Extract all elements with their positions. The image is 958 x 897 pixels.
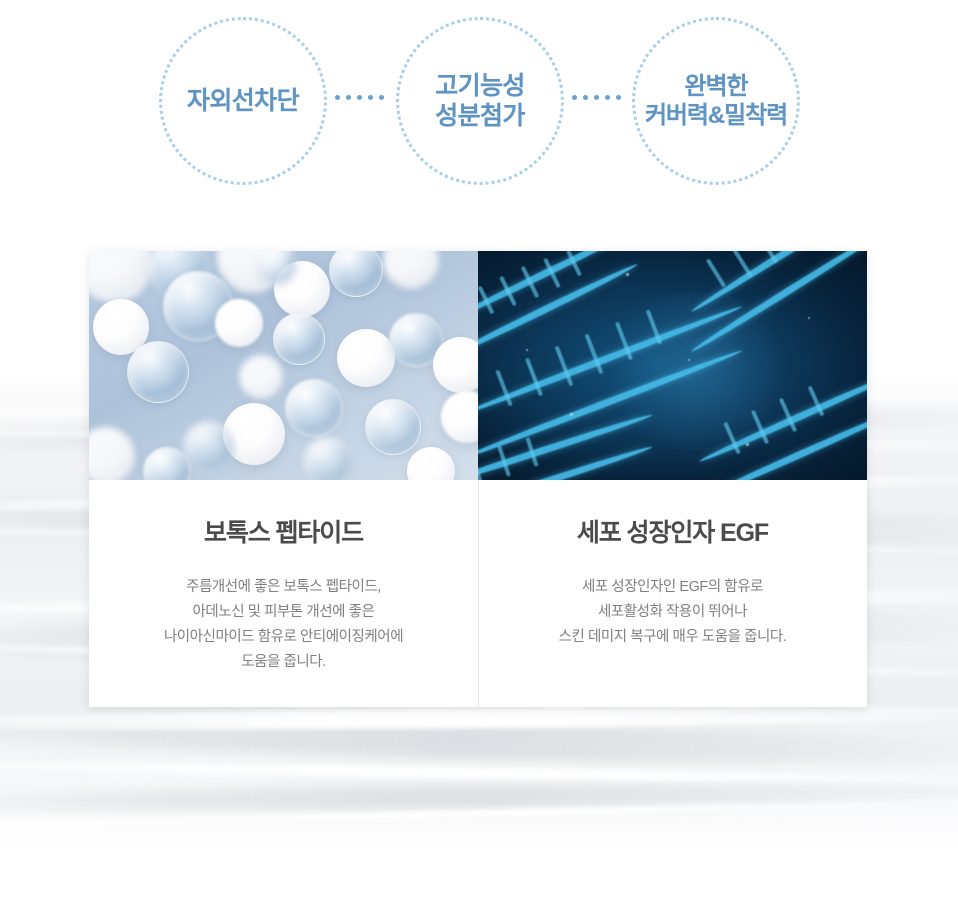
connector-dot	[368, 95, 373, 100]
connector-dot	[346, 95, 351, 100]
card-thumbnail	[478, 251, 867, 480]
wave-bottom-fade	[0, 821, 958, 867]
feature-circle-functional: 고기능성 성분첨가	[396, 17, 564, 185]
connector-dot	[335, 95, 340, 100]
card-body: 보톡스 펩타이드 주름개선에 좋은 보톡스 펩타이드, 아데노신 및 피부톤 개…	[89, 480, 478, 707]
ingredient-feature-section: 자외선차단 고기능성 성분첨가 완벽한 커버력&밀착력	[0, 0, 958, 897]
feature-circle-uv-block: 자외선차단	[159, 17, 327, 185]
connector-dot	[605, 95, 610, 100]
feature-circle-label: 고기능성 성분첨가	[435, 71, 525, 132]
dna-double-helix-image	[478, 251, 867, 480]
connector-dot	[616, 95, 621, 100]
circle-connector-dots	[572, 95, 621, 100]
feature-circle-row: 자외선차단 고기능성 성분첨가 완벽한 커버력&밀착력	[0, 0, 958, 200]
card-title: 보톡스 펩타이드	[119, 518, 448, 549]
circle-connector-dots	[335, 95, 384, 100]
card-description: 주름개선에 좋은 보톡스 펩타이드, 아데노신 및 피부톤 개선에 좋은 나이아…	[119, 575, 448, 675]
feature-circle-label: 자외선차단	[187, 86, 299, 117]
card-body: 세포 성장인자 EGF 세포 성장인자인 EGF의 함유로 세포활성화 작용이 …	[478, 480, 867, 707]
ingredient-card-panel: 보톡스 펩타이드 주름개선에 좋은 보톡스 펩타이드, 아데노신 및 피부톤 개…	[89, 251, 867, 707]
feature-circle-coverage: 완벽한 커버력&밀착력	[632, 17, 800, 185]
white-spheres-bubbles-image	[89, 251, 478, 480]
card-thumbnail	[89, 251, 478, 480]
connector-dot	[583, 95, 588, 100]
connector-dot	[572, 95, 577, 100]
ingredient-card-egf: 세포 성장인자 EGF 세포 성장인자인 EGF의 함유로 세포활성화 작용이 …	[478, 251, 867, 707]
connector-dot	[357, 95, 362, 100]
feature-circle-label: 완벽한 커버력&밀착력	[645, 72, 787, 131]
ingredient-card-botox-peptide: 보톡스 펩타이드 주름개선에 좋은 보톡스 펩타이드, 아데노신 및 피부톤 개…	[89, 251, 478, 707]
connector-dot	[379, 95, 384, 100]
connector-dot	[594, 95, 599, 100]
card-description: 세포 성장인자인 EGF의 함유로 세포활성화 작용이 뛰어나 스킨 데미지 복…	[508, 575, 837, 650]
card-title: 세포 성장인자 EGF	[508, 518, 837, 549]
